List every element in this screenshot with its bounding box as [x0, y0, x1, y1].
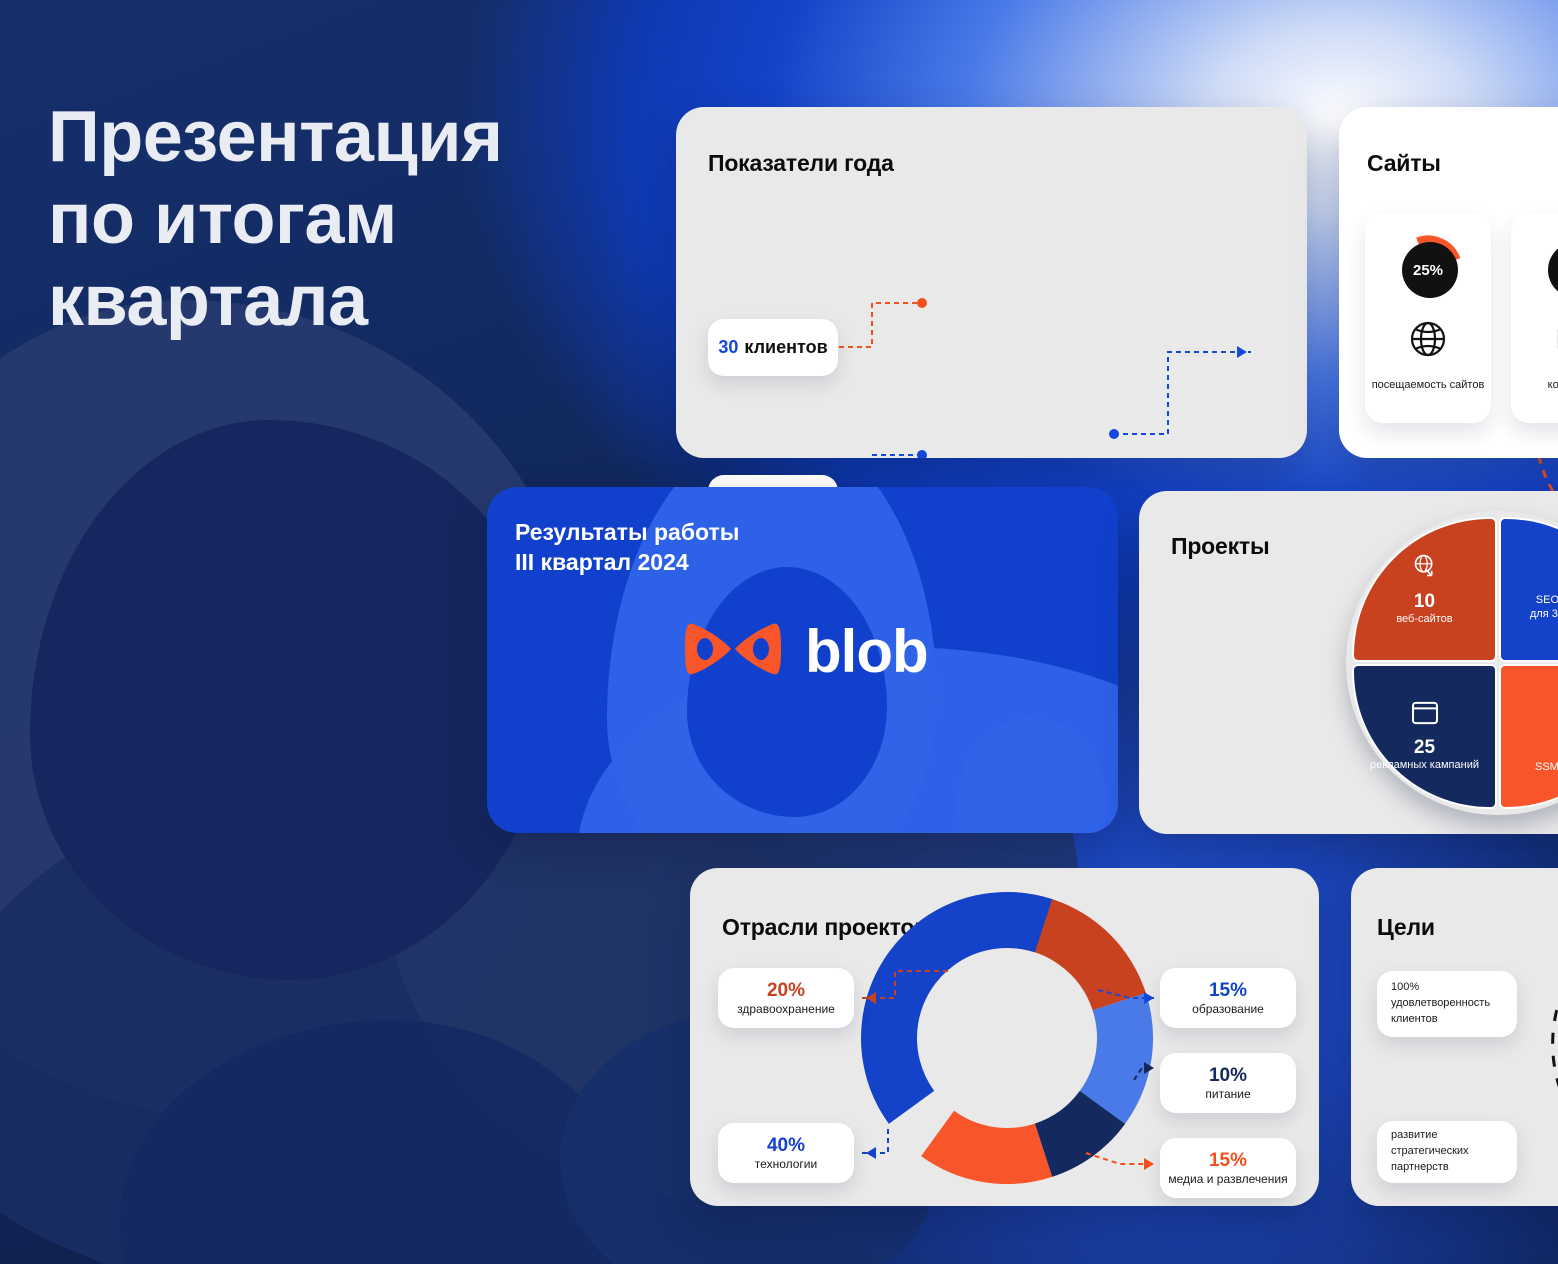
- industry-media-name: медиа и развлечения: [1168, 1172, 1287, 1187]
- card-industries[interactable]: Отрасли проектов: [690, 868, 1319, 1206]
- industry-health-name: здравоохранение: [737, 1002, 835, 1017]
- quadrant-ad-text: рекламных кампаний: [1370, 759, 1479, 773]
- quadrant-websites[interactable]: 10 веб-сайтов: [1352, 517, 1497, 662]
- page-title-line-2: по итогам: [48, 178, 648, 260]
- card-results[interactable]: Результаты работы III квартал 2024 blob: [487, 487, 1118, 833]
- card-sites[interactable]: Сайты 25% посещаемость сайтов: [1339, 107, 1558, 458]
- quadrant-ssm-text: SSM проектов: [1535, 761, 1558, 775]
- card-sites-title: Сайты: [1367, 150, 1441, 177]
- industry-edu-pct: 15%: [1209, 979, 1247, 1003]
- card-projects[interactable]: Проекты 10 веб-сайтов: [1139, 491, 1558, 834]
- globe-arrow-icon: [1411, 552, 1438, 584]
- industry-edu-name: образование: [1192, 1002, 1264, 1017]
- quadrant-ad-campaigns[interactable]: 25 рекламных кампаний: [1352, 664, 1497, 809]
- goal-item-partnerships-text: развитие стратегических партнерств: [1391, 1128, 1503, 1176]
- card-goals[interactable]: Цели 100% удовлетворенность клиентов раз…: [1351, 868, 1558, 1206]
- card-goals-title: Цели: [1377, 914, 1435, 941]
- conversion-caption: конверсия: [1511, 379, 1558, 391]
- results-title: Результаты работы III квартал 2024: [515, 517, 739, 578]
- goal-item-partnerships[interactable]: развитие стратегических партнерств: [1377, 1121, 1517, 1183]
- brand-logo: blob: [683, 617, 928, 686]
- results-title-line-1: Результаты работы: [515, 517, 739, 547]
- page-title: Презентация по итогам квартала: [48, 96, 648, 342]
- background-blob-2: [30, 420, 550, 980]
- quadrant-seo-text-before: SEO и анализ: [1536, 594, 1558, 608]
- page-title-line-3: квартала: [48, 260, 648, 342]
- industry-media-pct: 15%: [1209, 1149, 1247, 1173]
- metrics-connectors: [676, 107, 1307, 458]
- industry-label-health[interactable]: 20% здравоохранение: [718, 968, 854, 1028]
- goal-item-satisfaction-text: 100% удовлетворенность клиентов: [1391, 980, 1503, 1028]
- traffic-donut-chart: 25%: [1393, 235, 1463, 305]
- site-tile-conversion[interactable]: конверсия: [1511, 213, 1558, 423]
- window-icon: [1411, 701, 1439, 730]
- infinity-bowtie-icon: [683, 618, 783, 685]
- presentation-slide: Презентация по итогам квартала Показател…: [0, 0, 1558, 1264]
- quadrant-seo-text-after: для 30 проектов: [1530, 608, 1558, 622]
- quadrant-websites-text: веб-сайтов: [1396, 613, 1452, 627]
- page-title-line-1: Презентация: [48, 96, 648, 178]
- industry-food-pct: 10%: [1209, 1064, 1247, 1088]
- industry-label-food[interactable]: 10% питание: [1160, 1053, 1296, 1113]
- metric-label-clients: клиентов: [744, 337, 827, 358]
- industry-health-pct: 20%: [767, 979, 805, 1003]
- card-projects-title: Проекты: [1171, 533, 1269, 560]
- quadrant-websites-number: 10: [1414, 591, 1435, 613]
- conversion-donut-chart: [1539, 235, 1558, 305]
- globe-icon: [1408, 319, 1448, 364]
- quadrant-ad-number: 25: [1414, 737, 1435, 759]
- industry-tech-pct: 40%: [767, 1134, 805, 1158]
- goals-dashed-curve: [1526, 948, 1558, 1178]
- industry-food-name: питание: [1205, 1087, 1250, 1102]
- goal-item-satisfaction[interactable]: 100% удовлетворенность клиентов: [1377, 971, 1517, 1037]
- industry-label-media[interactable]: 15% медиа и развлечения: [1160, 1138, 1296, 1198]
- results-title-line-2: III квартал 2024: [515, 547, 739, 577]
- industry-tech-name: технологии: [755, 1157, 817, 1172]
- industry-label-tech[interactable]: 40% технологии: [718, 1123, 854, 1183]
- projects-quadrant-chart: 10 веб-сайтов SEO и анализ для 30 проект…: [1346, 511, 1558, 815]
- brand-logo-text: blob: [805, 617, 928, 686]
- traffic-percent: 25%: [1393, 235, 1463, 305]
- metric-pill-clients[interactable]: 30клиентов: [708, 319, 838, 376]
- quadrant-ssm[interactable]: 15 SSM проектов: [1499, 664, 1558, 809]
- quadrant-seo[interactable]: SEO и анализ для 30 проектов: [1499, 517, 1558, 662]
- chart-icon: [1554, 319, 1558, 364]
- site-tile-traffic[interactable]: 25% посещаемость сайтов: [1365, 213, 1491, 423]
- metric-value-clients: 30: [718, 337, 738, 358]
- industry-label-education[interactable]: 15% образование: [1160, 968, 1296, 1028]
- traffic-caption: посещаемость сайтов: [1365, 379, 1491, 391]
- card-metrics[interactable]: Показатели года 30клиентов 50проектов 9 …: [676, 107, 1307, 458]
